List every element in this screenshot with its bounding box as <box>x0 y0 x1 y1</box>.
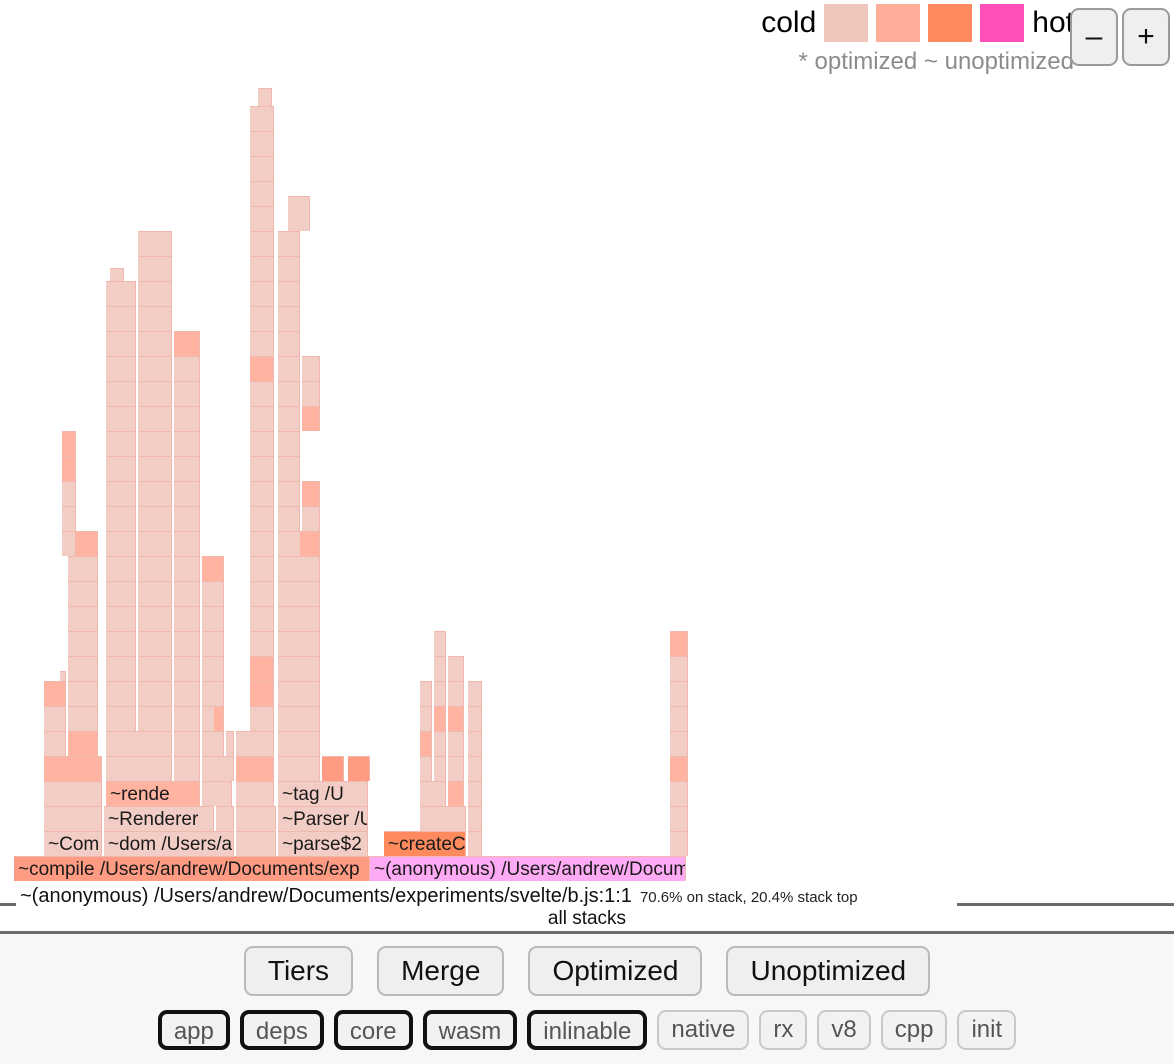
flame-frame[interactable] <box>174 556 200 581</box>
flame-frame[interactable] <box>138 556 172 581</box>
flame-frame[interactable] <box>62 481 76 506</box>
flame-frame[interactable] <box>288 196 310 231</box>
flame-frame[interactable] <box>174 456 200 481</box>
flame-frame[interactable] <box>44 781 102 806</box>
flame-frame-label: ~Renderer <box>108 809 198 830</box>
flame-frame[interactable] <box>138 381 172 406</box>
tag-button-cpp[interactable]: cpp <box>881 1010 948 1050</box>
flame-frame[interactable] <box>448 681 464 706</box>
flame-frame[interactable] <box>174 381 200 406</box>
flame-frame[interactable] <box>468 731 482 756</box>
legend-bar: cold hot * optimized ~ unoptimized – + <box>700 0 1174 82</box>
flame-frame[interactable] <box>250 581 274 606</box>
flame-frame[interactable] <box>68 681 98 706</box>
legend-swatch-hotter <box>928 4 972 42</box>
flame-frame[interactable] <box>670 681 688 706</box>
flame-frame[interactable] <box>68 656 98 681</box>
flame-frame[interactable] <box>236 781 274 806</box>
flame-frame[interactable] <box>300 531 320 556</box>
flame-frame[interactable] <box>278 256 300 281</box>
flame-frame[interactable] <box>250 681 274 706</box>
flame-frame[interactable] <box>106 681 136 706</box>
flame-frame[interactable] <box>216 806 234 831</box>
flame-frame[interactable] <box>202 681 224 706</box>
flame-frame[interactable] <box>110 268 124 281</box>
zoom-out-button[interactable]: – <box>1070 8 1118 66</box>
flame-frame[interactable] <box>106 606 136 631</box>
flame-frame[interactable] <box>250 606 274 631</box>
flame-frame[interactable] <box>106 531 136 556</box>
flame-frame[interactable] <box>670 706 688 731</box>
flame-frame[interactable]: ~dom /Users/a <box>104 831 234 856</box>
flame-frame[interactable] <box>434 756 446 781</box>
flame-frame[interactable] <box>278 631 320 656</box>
flame-frame[interactable] <box>278 406 300 431</box>
tag-button-wasm[interactable]: wasm <box>423 1010 518 1050</box>
flame-frame-label: ~compile /Users/andrew/Documents/exp <box>18 859 360 880</box>
flame-frame[interactable] <box>250 356 274 381</box>
flame-frame[interactable] <box>190 706 200 731</box>
flame-frame[interactable] <box>250 456 274 481</box>
tag-button-inlinable[interactable]: inlinable <box>527 1010 647 1050</box>
flame-frame[interactable] <box>250 631 274 656</box>
flame-frame[interactable] <box>106 756 172 781</box>
flame-frame[interactable] <box>250 556 274 581</box>
flame-frame[interactable] <box>138 606 172 631</box>
flame-frame[interactable] <box>250 431 274 456</box>
flame-frame[interactable] <box>106 456 136 481</box>
flame-frame[interactable]: ~compile /Users/andrew/Documents/exp <box>14 856 370 881</box>
flame-frame[interactable] <box>420 756 432 781</box>
flame-frame[interactable] <box>174 406 200 431</box>
flame-frame[interactable] <box>278 231 300 256</box>
flame-frame[interactable] <box>670 831 688 856</box>
flame-frame[interactable] <box>138 231 172 256</box>
flame-frame[interactable] <box>60 671 66 681</box>
flame-frame[interactable] <box>250 231 274 256</box>
flame-frame[interactable] <box>670 806 688 831</box>
flame-frame[interactable] <box>226 756 234 781</box>
flame-frame-label: ~(anonymous) /Users/andrew/Docum <box>374 859 686 880</box>
flame-frame[interactable] <box>420 681 432 706</box>
flame-frame[interactable] <box>62 531 76 556</box>
flame-frame[interactable] <box>250 256 274 281</box>
flame-frame[interactable] <box>434 681 446 706</box>
flame-frame[interactable] <box>174 531 200 556</box>
flame-frame[interactable] <box>226 731 234 756</box>
flame-frame[interactable] <box>138 581 172 606</box>
flame-frame[interactable] <box>68 631 98 656</box>
flame-frame[interactable] <box>250 706 274 731</box>
flame-frame[interactable]: ~Parser /U <box>278 806 368 831</box>
flame-frame[interactable] <box>420 781 446 806</box>
flame-frame[interactable] <box>468 756 482 781</box>
bottom-toolbar: TiersMergeOptimizedUnoptimized appdepsco… <box>0 934 1174 1064</box>
tag-button-deps[interactable]: deps <box>240 1010 324 1050</box>
flame-frame[interactable] <box>106 281 136 306</box>
flame-frame[interactable] <box>278 706 320 731</box>
flame-frame[interactable] <box>236 731 274 756</box>
flame-frame[interactable] <box>174 506 200 531</box>
zoom-controls[interactable]: – + <box>1070 8 1170 66</box>
tag-filter-row: appdepscorewasminlinablenativerxv8cppini… <box>0 1010 1174 1050</box>
flame-frame[interactable] <box>670 631 688 656</box>
mode-button-unoptimized[interactable]: Unoptimized <box>726 946 930 996</box>
flame-frame[interactable] <box>106 556 136 581</box>
flame-frame[interactable] <box>44 681 66 706</box>
mode-button-tiers[interactable]: Tiers <box>244 946 353 996</box>
flame-frame[interactable] <box>174 681 200 706</box>
flame-frame[interactable] <box>68 731 98 756</box>
flame-frame[interactable] <box>420 706 432 731</box>
flame-frame[interactable] <box>138 656 172 681</box>
flame-frame[interactable] <box>302 381 320 406</box>
flame-frame[interactable] <box>448 756 464 781</box>
flame-frame[interactable] <box>236 806 276 831</box>
flame-frame[interactable] <box>174 581 200 606</box>
flame-frame[interactable] <box>258 88 272 106</box>
flame-frame[interactable] <box>202 731 224 756</box>
flame-frame[interactable] <box>420 731 432 756</box>
flame-frame[interactable] <box>448 706 464 731</box>
flame-frame[interactable] <box>278 456 300 481</box>
flame-frame[interactable] <box>250 331 274 356</box>
flame-frame[interactable] <box>670 656 688 681</box>
flame-frame[interactable] <box>278 281 300 306</box>
flame-frame[interactable] <box>468 806 482 831</box>
flame-frame[interactable] <box>106 506 136 531</box>
flame-frame[interactable] <box>468 706 482 731</box>
flame-frame[interactable] <box>278 506 300 531</box>
flame-frame[interactable] <box>250 281 274 306</box>
flame-frame[interactable] <box>106 431 136 456</box>
flame-frame[interactable] <box>434 731 446 756</box>
flame-frame[interactable] <box>68 606 98 631</box>
flame-frame[interactable] <box>278 731 320 756</box>
flame-frame[interactable] <box>44 706 66 731</box>
flame-frame[interactable] <box>138 631 172 656</box>
flame-frame[interactable] <box>202 556 224 581</box>
flame-frame[interactable] <box>106 381 136 406</box>
flame-frame[interactable] <box>138 281 172 306</box>
flame-frame[interactable] <box>106 481 136 506</box>
flame-frame[interactable] <box>448 656 464 681</box>
flame-frame[interactable] <box>670 756 688 781</box>
flame-frame[interactable] <box>62 431 76 456</box>
flame-frame[interactable] <box>278 756 320 781</box>
legend-cold-label: cold <box>761 8 816 38</box>
flame-frame[interactable] <box>250 406 274 431</box>
flame-frame[interactable] <box>448 781 464 806</box>
flame-frame[interactable] <box>302 356 320 381</box>
flame-frame[interactable] <box>250 156 274 181</box>
flame-frame[interactable] <box>322 756 344 781</box>
flame-frame[interactable] <box>174 481 200 506</box>
tag-button-core[interactable]: core <box>334 1010 413 1050</box>
flame-frame[interactable] <box>174 756 200 781</box>
flame-frame[interactable] <box>250 131 274 156</box>
flame-frame[interactable] <box>468 831 482 856</box>
flame-frame[interactable] <box>278 681 320 706</box>
flame-frame[interactable] <box>278 581 320 606</box>
flame-frame[interactable] <box>138 481 172 506</box>
flame-frame[interactable] <box>138 681 172 706</box>
flame-frame-label: ~tag /U <box>282 784 344 805</box>
flame-frame[interactable] <box>68 581 98 606</box>
flame-frame[interactable] <box>670 781 688 806</box>
tag-button-native[interactable]: native <box>657 1010 749 1050</box>
flame-frame[interactable] <box>278 381 300 406</box>
flame-frame[interactable] <box>250 531 274 556</box>
flame-frame[interactable] <box>278 656 320 681</box>
legend-swatch-hot <box>980 4 1024 42</box>
flame-frame[interactable] <box>138 506 172 531</box>
flame-frame[interactable] <box>174 331 200 356</box>
flame-frame[interactable]: ~tag /U <box>278 781 368 806</box>
flame-frame[interactable] <box>468 781 482 806</box>
flame-frame[interactable] <box>250 181 274 206</box>
flame-frame[interactable] <box>420 806 466 831</box>
flame-frame[interactable] <box>106 656 136 681</box>
mode-button-row: TiersMergeOptimizedUnoptimized <box>0 946 1174 996</box>
mode-button-optimized[interactable]: Optimized <box>528 946 702 996</box>
flame-frame[interactable] <box>202 781 232 806</box>
flame-frame[interactable]: ~Com <box>44 831 102 856</box>
flame-frame[interactable] <box>278 356 300 381</box>
flame-frame[interactable] <box>138 356 172 381</box>
flame-frame[interactable] <box>174 431 200 456</box>
flame-frame[interactable] <box>138 406 172 431</box>
flame-frame[interactable] <box>250 381 274 406</box>
flame-frame-label: ~createC <box>388 834 466 855</box>
flame-frame[interactable] <box>250 506 274 531</box>
flame-frame[interactable] <box>278 431 300 456</box>
flame-frame[interactable] <box>214 706 224 731</box>
flame-frame[interactable] <box>278 306 300 331</box>
flame-frame[interactable] <box>250 106 274 131</box>
flame-frame[interactable] <box>236 831 276 856</box>
flame-frame[interactable] <box>278 556 320 581</box>
flame-frame[interactable] <box>202 631 224 656</box>
flame-frame[interactable] <box>106 731 172 756</box>
flame-frame[interactable] <box>106 356 136 381</box>
flame-frame[interactable] <box>236 756 274 781</box>
flame-frame-label: ~rende <box>110 784 170 805</box>
flame-frame[interactable] <box>44 731 66 756</box>
flame-frame[interactable] <box>106 306 136 331</box>
zoom-in-button[interactable]: + <box>1122 8 1170 66</box>
tag-button-init[interactable]: init <box>957 1010 1016 1050</box>
heat-legend: cold hot <box>761 4 1074 42</box>
flame-frame[interactable] <box>174 606 200 631</box>
flame-frame[interactable] <box>250 656 274 681</box>
flame-frame[interactable] <box>106 631 136 656</box>
flame-frame[interactable] <box>138 306 172 331</box>
flame-frame[interactable] <box>106 406 136 431</box>
flame-frame[interactable] <box>202 606 224 631</box>
flame-frame[interactable] <box>302 481 320 506</box>
flame-frame[interactable] <box>250 481 274 506</box>
tag-button-rx[interactable]: rx <box>759 1010 807 1050</box>
flame-frame[interactable] <box>138 431 172 456</box>
flame-frame[interactable] <box>190 731 200 756</box>
flame-frame-label: ~dom /Users/a <box>108 834 232 855</box>
flame-frame[interactable]: ~Renderer <box>104 806 214 831</box>
flame-frame[interactable] <box>202 581 224 606</box>
flame-frame[interactable]: ~parse$2 <box>278 831 368 856</box>
flame-frame-label: ~Parser /U <box>282 809 368 830</box>
all-stacks-row[interactable]: all stacks <box>0 906 1174 932</box>
flame-frame[interactable] <box>44 756 102 781</box>
flame-frame[interactable]: ~rende <box>106 781 200 806</box>
legend-optimization-key: * optimized ~ unoptimized <box>799 48 1074 76</box>
flame-frame[interactable] <box>348 756 370 781</box>
flame-frame[interactable] <box>68 706 98 731</box>
tag-button-v8[interactable]: v8 <box>817 1010 870 1050</box>
flame-frame[interactable] <box>434 656 446 681</box>
flame-frame[interactable] <box>138 331 172 356</box>
flame-frame[interactable] <box>434 631 446 656</box>
flame-frame[interactable] <box>302 506 320 531</box>
flame-frame[interactable] <box>106 331 136 356</box>
legend-swatch-warm <box>876 4 920 42</box>
flame-frame-label: ~Com <box>48 834 99 855</box>
flame-frame[interactable] <box>468 681 482 706</box>
flame-frame[interactable] <box>138 456 172 481</box>
flame-frame[interactable] <box>174 356 200 381</box>
flame-frame[interactable] <box>106 581 136 606</box>
flame-frame[interactable] <box>302 406 320 431</box>
flame-frame[interactable] <box>44 806 102 831</box>
flame-frame[interactable] <box>278 481 300 506</box>
flame-frame[interactable] <box>202 656 224 681</box>
flame-frame[interactable] <box>138 531 172 556</box>
flame-frame[interactable] <box>62 506 76 531</box>
flame-frame[interactable] <box>250 306 274 331</box>
flame-frame[interactable] <box>62 456 76 481</box>
flame-frame[interactable] <box>448 731 464 756</box>
flame-frame-label: ~parse$2 <box>282 834 362 855</box>
flame-frame[interactable] <box>106 706 136 731</box>
flame-frame[interactable] <box>174 656 200 681</box>
flame-frame[interactable]: ~(anonymous) /Users/andrew/Docum <box>370 856 686 881</box>
mode-button-merge[interactable]: Merge <box>377 946 504 996</box>
flame-frame[interactable] <box>670 731 688 756</box>
tag-button-app[interactable]: app <box>158 1010 230 1050</box>
flame-frame[interactable] <box>138 256 172 281</box>
flame-frame[interactable] <box>250 206 274 231</box>
flame-frame[interactable] <box>68 556 98 581</box>
legend-hot-label: hot <box>1032 8 1074 38</box>
flame-frame[interactable] <box>174 631 200 656</box>
legend-swatch-cold <box>824 4 868 42</box>
flame-frame[interactable]: ~createC <box>384 831 466 856</box>
flame-frame[interactable] <box>278 331 300 356</box>
flame-frame[interactable] <box>278 606 320 631</box>
flamegraph-canvas[interactable]: ~compile /Users/andrew/Documents/exp~(an… <box>0 0 1174 884</box>
flame-frame[interactable] <box>434 706 446 731</box>
flame-frame[interactable] <box>138 706 172 731</box>
